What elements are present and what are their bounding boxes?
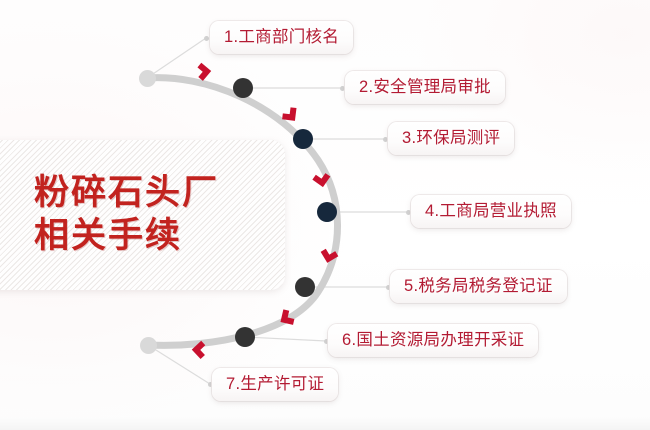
step-label-5: 5.税务局税务登记证: [404, 278, 553, 295]
step-box-4[interactable]: 4.工商局营业执照: [411, 195, 571, 228]
step-label-7: 7.生产许可证: [226, 376, 324, 393]
step-label-1: 1.工商部门核名: [224, 29, 339, 46]
step-node-icon-6[interactable]: [235, 327, 255, 347]
chevron-arrow-icon-1: [199, 64, 207, 79]
infographic-canvas: 粉碎石头厂 相关手续 1.工商部门核名 2.安全管理局审批 3.环保局测评 4.…: [0, 0, 650, 430]
chevron-arrow-icon-2: [282, 108, 297, 122]
leader-tip-1: [204, 36, 209, 41]
step-node-icon-3[interactable]: [293, 129, 313, 149]
leader-line-6: [245, 337, 326, 341]
leader-line-1: [147, 38, 206, 78]
step-label-4: 4.工商局营业执照: [425, 203, 557, 220]
step-label-3: 3.环保局测评: [402, 130, 500, 147]
step-box-5[interactable]: 5.税务局税务登记证: [390, 270, 567, 303]
step-box-7[interactable]: 7.生产许可证: [212, 368, 338, 401]
title-line-2: 相关手续: [34, 215, 285, 258]
arc-endpoint-icon-bottom: [140, 337, 157, 354]
title-panel: 粉碎石头厂 相关手续: [0, 140, 285, 290]
chevron-arrow-icon-6: [196, 343, 203, 357]
chevron-arrow-icon-5: [280, 310, 293, 326]
leader-line-7: [148, 345, 210, 384]
chevron-arrow-icon-4: [322, 250, 337, 260]
step-node-icon-4[interactable]: [317, 202, 337, 222]
step-node-icon-2[interactable]: [233, 78, 253, 98]
chevron-arrow-icon-3: [314, 175, 329, 184]
step-label-2: 2.安全管理局审批: [359, 79, 491, 96]
step-box-6[interactable]: 6.国土资源局办理开采证: [328, 324, 538, 357]
step-label-6: 6.国土资源局办理开采证: [342, 332, 524, 349]
step-node-icon-5[interactable]: [295, 277, 315, 297]
step-box-3[interactable]: 3.环保局测评: [388, 122, 514, 155]
arc-endpoint-icon-top: [139, 70, 156, 87]
title-line-1: 粉碎石头厂: [34, 172, 285, 215]
step-box-2[interactable]: 2.安全管理局审批: [345, 71, 505, 104]
step-box-1[interactable]: 1.工商部门核名: [210, 21, 353, 54]
